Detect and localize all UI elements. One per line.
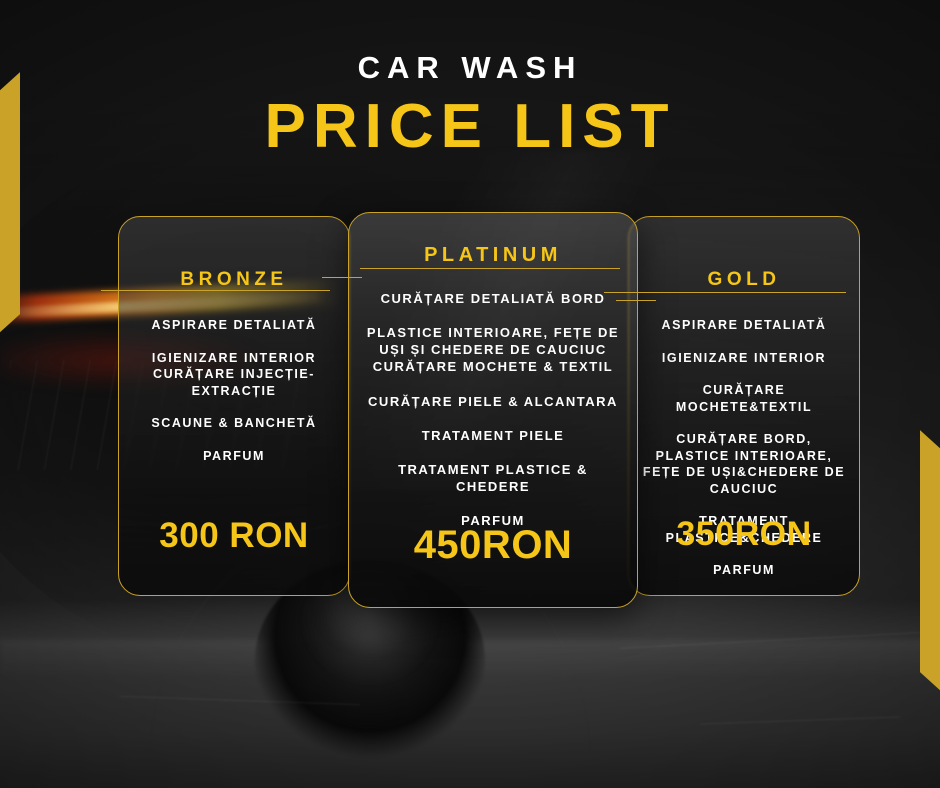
card-inner: PLATINUM CURĂȚARE DETALIATĂ BORD PLASTIC…	[349, 213, 637, 607]
tier-name-gold: GOLD	[708, 270, 781, 289]
feature-item: CURĂȚARE DETALIATĂ BORD	[361, 290, 625, 307]
feature-item: TRATAMENT PIELE	[361, 427, 625, 444]
divider-gold	[620, 292, 846, 293]
feature-item: PARFUM	[131, 448, 337, 465]
feature-item: PARFUM	[641, 562, 847, 579]
feature-item: CURĂȚARE BORD, PLASTICE INTERIOARE, FEȚE…	[641, 431, 847, 497]
poster-header: CAR WASH PRICE LIST	[0, 52, 940, 158]
card-inner: BRONZE ASPIRARE DETALIATĂ IGIENIZARE INT…	[119, 217, 349, 595]
page-title: PRICE LIST	[0, 96, 940, 158]
divider-gold-stub	[604, 292, 640, 293]
feature-item: TRATAMENT PLASTICE & CHEDERE	[361, 461, 625, 495]
pricing-card-platinum[interactable]: PLATINUM CURĂȚARE DETALIATĂ BORD PLASTIC…	[348, 212, 638, 608]
price-platinum: 450RON	[349, 525, 637, 565]
feature-list-platinum: CURĂȚARE DETALIATĂ BORD PLASTICE INTERIO…	[361, 290, 625, 546]
card-inner: GOLD ASPIRARE DETALIATĂ IGIENIZARE INTER…	[629, 217, 859, 595]
feature-item: IGIENIZARE INTERIOR CURĂȚARE INJECȚIE- E…	[131, 350, 337, 400]
feature-item: IGIENIZARE INTERIOR	[641, 350, 847, 367]
feature-item: PLASTICE INTERIOARE, FEȚE DE UȘI ȘI CHED…	[361, 324, 625, 375]
pricing-card-gold[interactable]: GOLD ASPIRARE DETALIATĂ IGIENIZARE INTER…	[628, 216, 860, 596]
divider-platinum-stub	[616, 300, 656, 301]
feature-list-bronze: ASPIRARE DETALIATĂ IGIENIZARE INTERIOR C…	[131, 317, 337, 480]
feature-item: CURĂȚARE PIELE & ALCANTARA	[361, 393, 625, 410]
divider-platinum	[360, 268, 620, 269]
feature-item: ASPIRARE DETALIATĂ	[641, 317, 847, 334]
tier-name-bronze: BRONZE	[180, 270, 287, 289]
divider-bronze	[101, 290, 330, 291]
feature-item: SCAUNE & BANCHETĂ	[131, 415, 337, 432]
feature-item: CURĂȚARE MOCHETE&TEXTIL	[641, 382, 847, 415]
tier-name-platinum: PLATINUM	[424, 245, 562, 265]
price-bronze: 300 RON	[119, 518, 349, 553]
feature-item: ASPIRARE DETALIATĂ	[131, 317, 337, 334]
poster-subtitle: CAR WASH	[0, 52, 940, 83]
divider-bronze-stub	[322, 277, 362, 278]
price-list-poster: CAR WASH PRICE LIST BRONZE ASPIRARE DETA…	[0, 0, 940, 788]
pricing-card-bronze[interactable]: BRONZE ASPIRARE DETALIATĂ IGIENIZARE INT…	[118, 216, 350, 596]
price-gold: 350RON	[629, 517, 859, 551]
